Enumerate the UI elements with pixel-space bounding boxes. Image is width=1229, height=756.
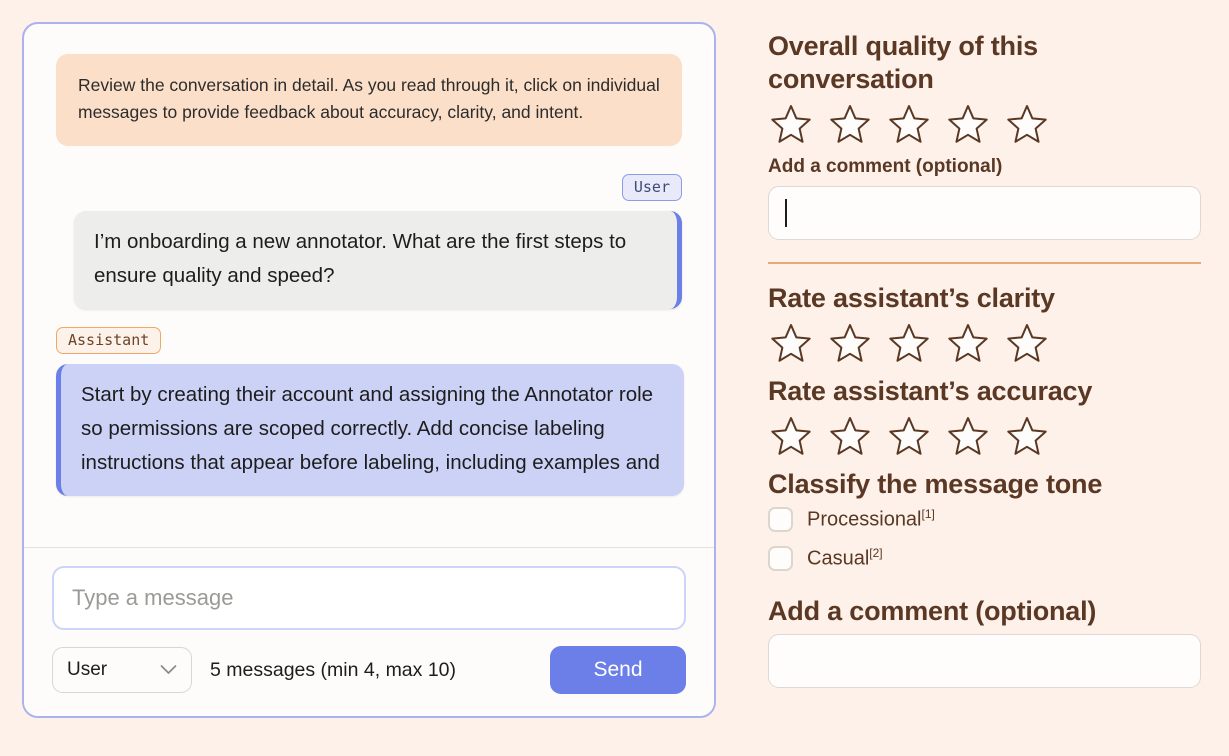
star-icon-4[interactable] [945, 414, 991, 458]
star-icon-1[interactable] [768, 102, 814, 146]
message-counter: 5 messages (min 4, max 10) [210, 659, 532, 682]
star-icon-2[interactable] [827, 321, 873, 365]
star-icon-1[interactable] [768, 414, 814, 458]
role-select[interactable]: User [52, 647, 192, 693]
message-row-user[interactable]: User I’m onboarding a new annotator. Wha… [56, 174, 682, 309]
text-caret [785, 199, 787, 227]
section-heading-accuracy: Rate assistant’s accuracy [768, 375, 1201, 408]
star-rating-clarity[interactable] [768, 321, 1201, 365]
star-icon-2[interactable] [827, 102, 873, 146]
comment-input-bottom[interactable] [768, 634, 1201, 688]
role-badge-user: User [622, 174, 682, 201]
checkbox-processional[interactable] [768, 507, 793, 532]
rating-panel: Overall quality of this conversation Add… [740, 0, 1229, 756]
star-rating-accuracy[interactable] [768, 414, 1201, 458]
send-button[interactable]: Send [550, 646, 686, 694]
checkbox-row-processional[interactable]: Processional[1] [768, 507, 1201, 532]
section-divider [768, 262, 1201, 264]
comment-label-overall: Add a comment (optional) [768, 156, 1201, 178]
app-root: Review the conversation in detail. As yo… [0, 0, 1229, 756]
star-icon-4[interactable] [945, 102, 991, 146]
footnote-marker-1: [1] [922, 507, 935, 521]
star-icon-5[interactable] [1004, 414, 1050, 458]
message-row-assistant[interactable]: Assistant Start by creating their accoun… [56, 327, 682, 496]
message-composer: User 5 messages (min 4, max 10) Send [24, 547, 714, 716]
role-badge-assistant: Assistant [56, 327, 161, 354]
message-bubble-user[interactable]: I’m onboarding a new annotator. What are… [74, 211, 682, 309]
section-heading-message-tone: Classify the message tone [768, 468, 1201, 501]
instruction-banner: Review the conversation in detail. As yo… [56, 54, 682, 146]
star-icon-1[interactable] [768, 321, 814, 365]
message-bubble-assistant[interactable]: Start by creating their account and assi… [56, 364, 684, 496]
star-icon-5[interactable] [1004, 102, 1050, 146]
star-icon-4[interactable] [945, 321, 991, 365]
checkbox-label-casual: Casual[2] [807, 546, 883, 571]
star-icon-3[interactable] [886, 321, 932, 365]
conversation-column: Review the conversation in detail. As yo… [0, 0, 740, 756]
footnote-marker-2: [2] [869, 546, 882, 560]
role-select-value: User [67, 659, 107, 681]
comment-input-overall[interactable] [768, 186, 1201, 240]
chevron-down-icon [160, 665, 177, 676]
checkbox-label-processional: Processional[1] [807, 507, 935, 532]
checkbox-label-text: Processional [807, 509, 922, 531]
checkbox-label-text: Casual [807, 548, 869, 570]
checkbox-casual[interactable] [768, 546, 793, 571]
section-heading-overall-quality: Overall quality of this conversation [768, 30, 1201, 96]
star-rating-overall-quality[interactable] [768, 102, 1201, 146]
star-icon-2[interactable] [827, 414, 873, 458]
star-icon-5[interactable] [1004, 321, 1050, 365]
star-icon-3[interactable] [886, 414, 932, 458]
comment-field-overall-wrap [768, 186, 1201, 240]
conversation-card: Review the conversation in detail. As yo… [22, 22, 716, 718]
section-heading-clarity: Rate assistant’s clarity [768, 282, 1201, 315]
message-input[interactable] [52, 566, 686, 630]
composer-controls-row: User 5 messages (min 4, max 10) Send [52, 646, 686, 694]
checkbox-row-casual[interactable]: Casual[2] [768, 546, 1201, 571]
spacer [768, 585, 1201, 595]
section-heading-bottom-comment: Add a comment (optional) [768, 595, 1201, 628]
star-icon-3[interactable] [886, 102, 932, 146]
